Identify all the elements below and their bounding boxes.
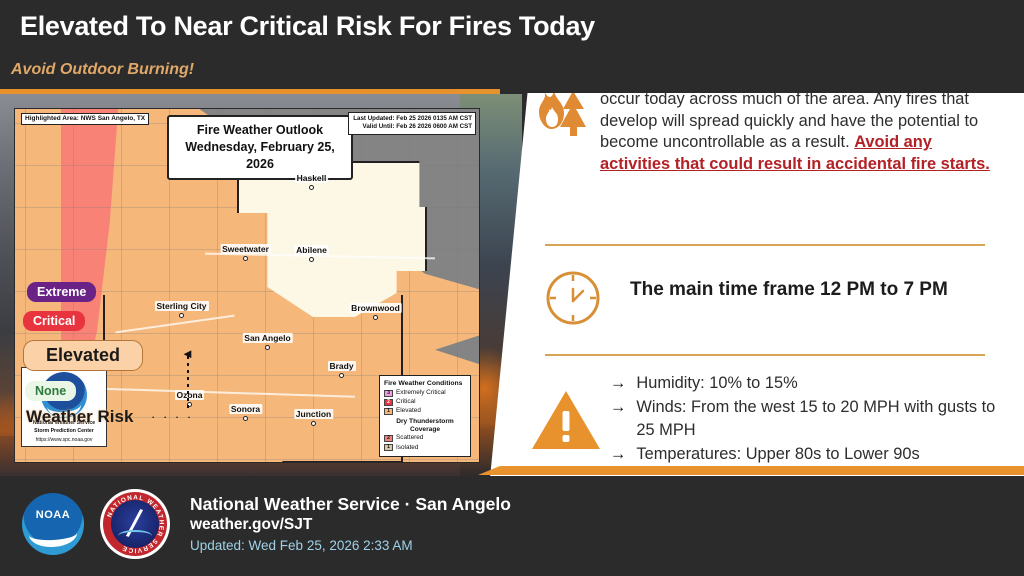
time-frame-text: The main time frame 12 PM to 7 PM <box>630 279 1010 301</box>
city-label: Brady <box>327 361 355 371</box>
outlook-title-box: Fire Weather Outlook Wednesday, February… <box>167 115 353 180</box>
bullet-text: Winds: From the west 15 to 20 MPH with g… <box>636 396 1010 441</box>
city-marker <box>373 315 378 320</box>
city-label: Junction <box>294 409 333 419</box>
city-label: Brownwood <box>349 303 402 313</box>
map-legend: Fire Weather Conditions 3 Extremely Crit… <box>379 375 471 457</box>
city-sonora: Sonora <box>243 416 248 421</box>
city-marker <box>339 373 344 378</box>
city-label: Haskell <box>295 173 329 183</box>
city-san-angelo: San Angelo <box>265 345 270 350</box>
noaa-seal-text: NOAA <box>22 509 84 521</box>
info-panel: Elevated to near critical fire weather c… <box>490 57 1024 478</box>
city-marker <box>243 416 248 421</box>
conditions-bullet-list: → Humidity: 10% to 15% → Winds: From the… <box>610 372 1010 467</box>
divider-1 <box>545 244 985 246</box>
risk-chip-extreme: Extreme <box>27 282 96 302</box>
nws-seal-inner <box>111 500 159 548</box>
footer-bar: NOAA NATIONAL WEATHER SERVICE National W… <box>0 476 1024 576</box>
elevated-pointer-arrow: ◄ <box>181 346 194 361</box>
office-name: National Weather Service · San Angelo <box>190 494 511 515</box>
city-label: Abilene <box>294 245 329 255</box>
clock-icon <box>542 267 604 329</box>
city-abilene: Abilene <box>309 257 314 262</box>
legend-swatch: 2 <box>384 435 393 442</box>
bullet-temperatures: → Temperatures: Upper 80s to Lower 90s <box>610 443 1010 465</box>
legend-subtitle-line1: Dry Thunderstorm <box>384 418 466 426</box>
arrow-icon: → <box>610 443 626 465</box>
legend-item: 3 Extremely Critical <box>384 389 466 398</box>
city-marker <box>179 313 184 318</box>
legend-label: Isolated <box>396 444 418 453</box>
office-url[interactable]: weather.gov/SJT <box>190 516 312 534</box>
city-marker <box>311 421 316 426</box>
weather-graphic: Elevated To Near Critical Risk For Fires… <box>0 0 1024 576</box>
city-label: San Angelo <box>242 333 292 343</box>
header-bar: Elevated To Near Critical Risk For Fires… <box>0 0 1024 93</box>
leader-dots: · · · · <box>151 409 193 424</box>
last-updated-text: Last Updated: Feb 25 2026 0135 AM CST <box>352 115 472 123</box>
bullet-winds: → Winds: From the west 15 to 20 MPH with… <box>610 396 1010 441</box>
legend-item: 2 Critical <box>384 398 466 407</box>
risk-chip-none: None <box>25 381 76 401</box>
updated-timestamp: Updated: Wed Feb 25, 2026 2:33 AM <box>190 538 413 553</box>
header-accent-rule <box>0 89 500 94</box>
legend-label: Scattered <box>396 434 423 443</box>
bullet-text: Humidity: 10% to 15% <box>636 372 797 394</box>
map-timestamp-box: Last Updated: Feb 25 2026 0135 AM CST Va… <box>348 112 476 135</box>
risk-chip-elevated: Elevated <box>23 340 143 371</box>
city-label: Sterling City <box>154 301 208 311</box>
panel-bottom-accent-bar <box>478 466 1024 475</box>
city-junction: Junction <box>311 421 316 426</box>
legend-swatch: 1 <box>384 408 393 415</box>
legend-item: 1 Isolated <box>384 444 466 453</box>
leader-line-vertical <box>187 356 189 408</box>
legend-subtitle: Dry Thunderstorm Coverage <box>384 418 466 434</box>
legend-label: Critical <box>396 398 416 407</box>
city-brownwood: Brownwood <box>373 315 378 320</box>
noaa-seal-icon: NOAA <box>22 493 84 555</box>
city-brady: Brady <box>339 373 344 378</box>
noaa-gull-shape <box>28 520 77 548</box>
city-label: Sweetwater <box>220 244 271 254</box>
city-label: Ozona <box>175 390 205 400</box>
legend-title: Fire Weather Conditions <box>384 379 466 388</box>
highlighted-area-label: Highlighted Area: NWS San Angelo, TX <box>21 113 149 125</box>
city-marker <box>243 256 248 261</box>
legend-subtitle-line2: Coverage <box>384 426 466 434</box>
outlook-title-line1: Fire Weather Outlook <box>173 122 347 139</box>
arrow-icon: → <box>610 372 626 394</box>
page-title: Elevated To Near Critical Risk For Fires… <box>20 11 595 42</box>
city-sterling-city: Sterling City <box>179 313 184 318</box>
arrow-icon: → <box>610 396 626 418</box>
risk-chip-critical: Critical <box>23 311 85 331</box>
nws-seal-icon: NATIONAL WEATHER SERVICE <box>100 489 170 559</box>
spc-caption-line2: Storm Prediction Center <box>24 428 104 436</box>
legend-item: 2 Scattered <box>384 434 466 443</box>
city-label: Sonora <box>229 404 262 414</box>
bullet-humidity: → Humidity: 10% to 15% <box>610 372 1010 394</box>
page-subtitle: Avoid Outdoor Burning! <box>11 61 194 79</box>
divider-2 <box>545 354 985 356</box>
city-marker <box>309 185 314 190</box>
legend-swatch: 2 <box>384 399 393 406</box>
legend-label: Elevated <box>396 407 421 416</box>
weather-risk-label: Weather Risk <box>26 407 133 427</box>
legend-label: Extremely Critical <box>396 389 446 398</box>
legend-swatch: 1 <box>384 444 393 451</box>
fire-weather-outlook-map[interactable]: Haskell Sweetwater Abilene Sterling City… <box>14 108 480 463</box>
city-marker <box>265 345 270 350</box>
valid-until-text: Valid Until: Feb 26 2026 0600 AM CST <box>352 123 472 131</box>
spc-url: https://www.spc.noaa.gov <box>24 437 104 443</box>
outlook-title-line2: Wednesday, February 25, 2026 <box>173 139 347 173</box>
warning-triangle-icon <box>530 387 602 453</box>
bullet-text: Temperatures: Upper 80s to Lower 90s <box>636 443 919 465</box>
nws-seal-arc <box>118 530 153 542</box>
city-haskell: Haskell <box>309 185 314 190</box>
legend-swatch: 3 <box>384 390 393 397</box>
legend-item: 1 Elevated <box>384 407 466 416</box>
city-marker <box>309 257 314 262</box>
city-sweetwater: Sweetwater <box>243 256 248 261</box>
